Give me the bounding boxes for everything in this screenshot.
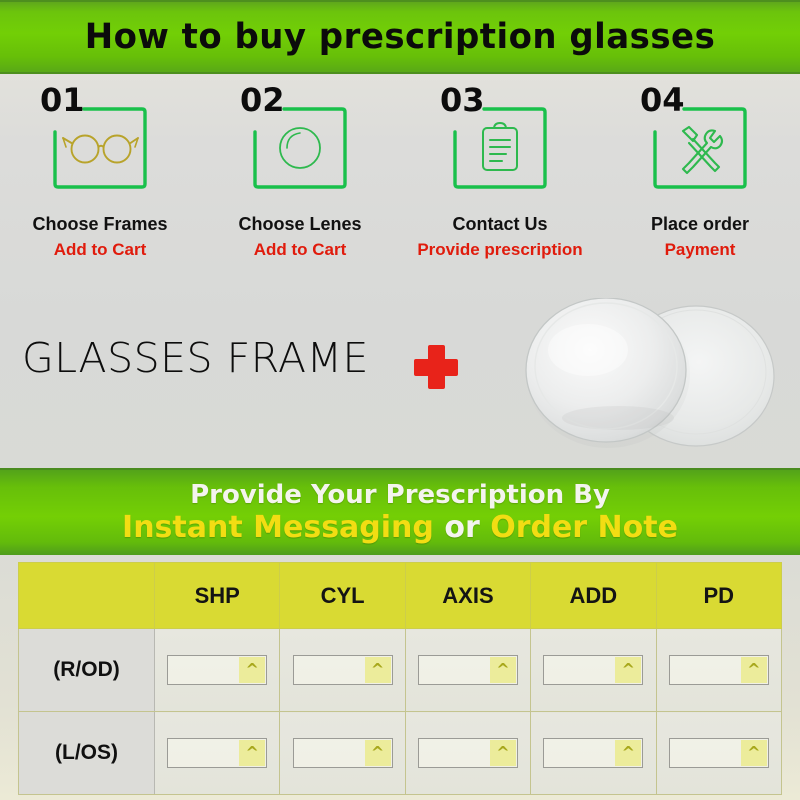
input-r-shp[interactable]: ^ <box>167 655 267 685</box>
glasses-frame-section: GLASSES FRAME <box>0 290 800 465</box>
chevron-up-icon[interactable]: ^ <box>239 657 265 683</box>
step-2-icon-wrap: 02 <box>244 98 356 194</box>
chevron-up-icon[interactable]: ^ <box>741 657 767 683</box>
step-item-3[interactable]: 03 Contact Us Provide prescription <box>400 80 600 285</box>
input-l-cyl[interactable]: ^ <box>293 738 393 768</box>
table-corner-cell <box>19 563 155 629</box>
prescription-banner-line2: Instant Messaging or Order Note <box>122 511 678 544</box>
step-2-sublabel: Add to Cart <box>254 240 347 260</box>
step-4-label: Place order <box>651 214 749 235</box>
table-col-header-axis: AXIS <box>405 563 530 629</box>
table-cell-r-cyl[interactable]: ^ <box>280 629 405 712</box>
prescription-banner-highlight-1: Instant Messaging <box>122 510 434 545</box>
table-row: (R/OD) ^ ^ ^ <box>19 629 782 712</box>
prescription-banner-line1: Provide Your Prescription By <box>190 481 610 510</box>
prescription-table-head: SHP CYL AXIS ADD PD <box>19 563 782 629</box>
table-row-label-left-eye: (L/OS) <box>19 712 155 795</box>
step-3-number: 03 <box>440 84 485 116</box>
step-1-number: 01 <box>40 84 85 116</box>
step-1-label: Choose Frames <box>32 214 167 235</box>
page-header-banner: How to buy prescription glasses <box>0 0 800 74</box>
chevron-up-icon[interactable]: ^ <box>615 740 641 766</box>
step-3-label: Contact Us <box>452 214 547 235</box>
prescription-banner: Provide Your Prescription By Instant Mes… <box>0 468 800 555</box>
step-3-sublabel: Provide prescription <box>417 240 582 260</box>
input-r-pd[interactable]: ^ <box>669 655 769 685</box>
two-lens-discs-image <box>500 298 800 466</box>
input-l-axis[interactable]: ^ <box>418 738 518 768</box>
step-3-icon-wrap: 03 <box>444 98 556 194</box>
table-cell-r-pd[interactable]: ^ <box>656 629 781 712</box>
infographic-page: How to buy prescription glasses <box>0 0 800 800</box>
chevron-up-icon[interactable]: ^ <box>365 657 391 683</box>
table-row: (L/OS) ^ ^ ^ <box>19 712 782 795</box>
prescription-banner-highlight-2: Order Note <box>490 510 678 545</box>
input-r-axis[interactable]: ^ <box>418 655 518 685</box>
input-l-add[interactable]: ^ <box>543 738 643 768</box>
table-cell-l-pd[interactable]: ^ <box>656 712 781 795</box>
chevron-up-icon[interactable]: ^ <box>490 657 516 683</box>
step-4-number: 04 <box>640 84 685 116</box>
chevron-up-icon[interactable]: ^ <box>615 657 641 683</box>
step-item-2[interactable]: 02 Choose Lenes Add to Cart <box>200 80 400 285</box>
table-cell-r-shp[interactable]: ^ <box>155 629 280 712</box>
prescription-table-body: (R/OD) ^ ^ ^ <box>19 629 782 795</box>
table-col-header-pd: PD <box>656 563 781 629</box>
input-l-shp[interactable]: ^ <box>167 738 267 768</box>
table-col-header-add: ADD <box>531 563 656 629</box>
steps-row: 01 Choose Frames Add to Cart 02 Choose L… <box>0 80 800 285</box>
table-col-header-shp: SHP <box>155 563 280 629</box>
chevron-up-icon[interactable]: ^ <box>741 740 767 766</box>
chevron-up-icon[interactable]: ^ <box>365 740 391 766</box>
table-cell-l-cyl[interactable]: ^ <box>280 712 405 795</box>
table-cell-l-axis[interactable]: ^ <box>405 712 530 795</box>
table-cell-l-shp[interactable]: ^ <box>155 712 280 795</box>
step-4-sublabel: Payment <box>665 240 736 260</box>
input-r-cyl[interactable]: ^ <box>293 655 393 685</box>
input-r-add[interactable]: ^ <box>543 655 643 685</box>
page-title: How to buy prescription glasses <box>85 17 716 57</box>
chevron-up-icon[interactable]: ^ <box>490 740 516 766</box>
step-item-1[interactable]: 01 Choose Frames Add to Cart <box>0 80 200 285</box>
input-l-pd[interactable]: ^ <box>669 738 769 768</box>
step-2-number: 02 <box>240 84 285 116</box>
table-cell-r-add[interactable]: ^ <box>531 629 656 712</box>
table-row-label-right-eye: (R/OD) <box>19 629 155 712</box>
step-1-sublabel: Add to Cart <box>54 240 147 260</box>
step-1-icon-wrap: 01 <box>44 98 156 194</box>
prescription-table: SHP CYL AXIS ADD PD (R/OD) ^ ^ <box>18 562 782 795</box>
table-cell-l-add[interactable]: ^ <box>531 712 656 795</box>
prescription-banner-connector: or <box>434 510 490 545</box>
glasses-frame-title: GLASSES FRAME <box>22 334 369 382</box>
step-4-icon-wrap: 04 <box>644 98 756 194</box>
step-2-label: Choose Lenes <box>238 214 361 235</box>
red-plus-icon <box>414 345 458 389</box>
table-col-header-cyl: CYL <box>280 563 405 629</box>
step-item-4[interactable]: 04 Place order Payment <box>600 80 800 285</box>
table-header-row: SHP CYL AXIS ADD PD <box>19 563 782 629</box>
table-cell-r-axis[interactable]: ^ <box>405 629 530 712</box>
chevron-up-icon[interactable]: ^ <box>239 740 265 766</box>
red-plus-vertical-bar <box>428 345 445 389</box>
